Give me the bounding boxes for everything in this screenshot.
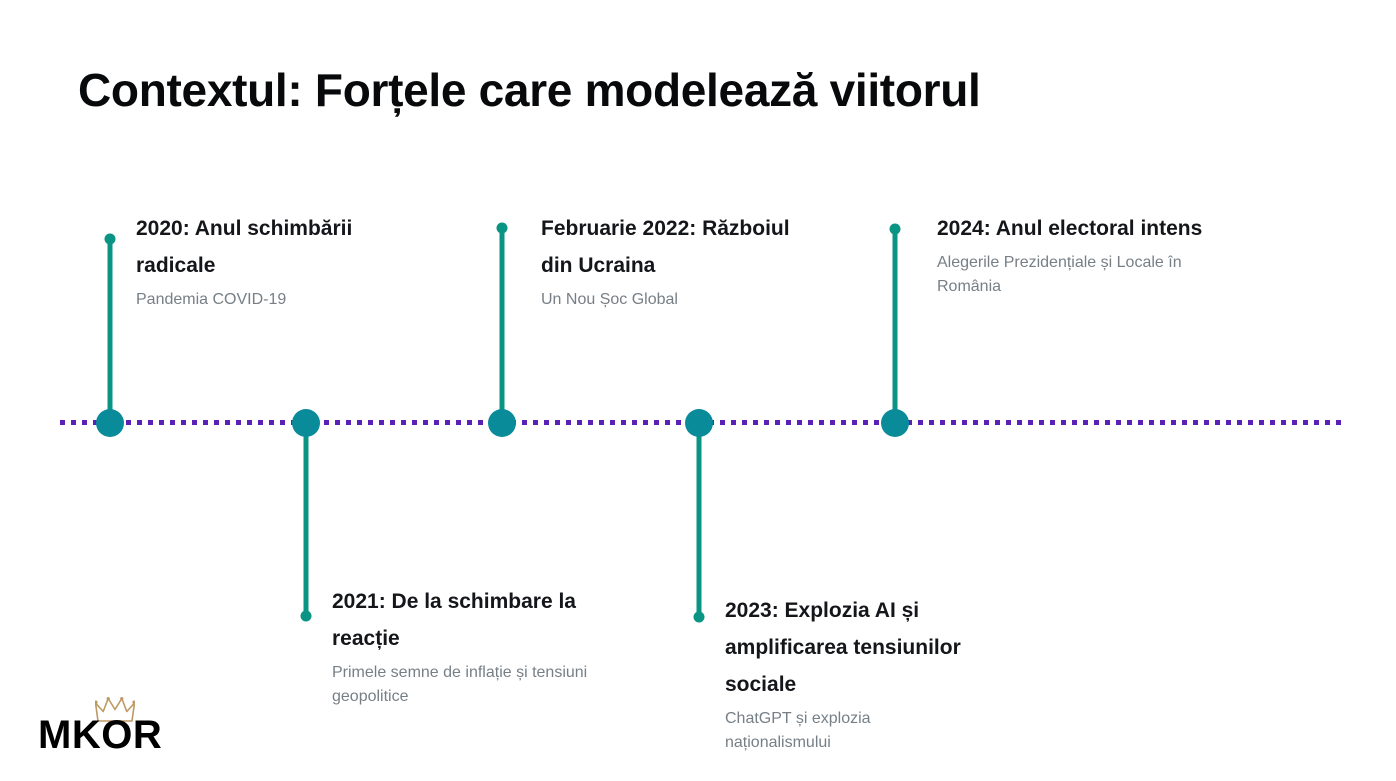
axis-dot — [1237, 420, 1242, 425]
axis-dot — [643, 420, 648, 425]
timeline-node-marker[interactable] — [881, 409, 909, 437]
brand-logo: MKOR — [38, 697, 168, 759]
axis-dot — [863, 420, 868, 425]
axis-dot — [764, 420, 769, 425]
axis-dot — [621, 420, 626, 425]
axis-dot — [159, 420, 164, 425]
axis-dot — [1336, 420, 1341, 425]
axis-dot — [588, 420, 593, 425]
axis-dot — [1314, 420, 1319, 425]
axis-dot — [918, 420, 923, 425]
axis-dot — [467, 420, 472, 425]
timeline-endpoint-dot — [694, 612, 705, 623]
timeline-item-subtitle: Un Nou Șoc Global — [541, 284, 813, 312]
axis-dot — [1303, 420, 1308, 425]
axis-dot — [192, 420, 197, 425]
axis-dot — [1259, 420, 1264, 425]
axis-dot — [1193, 420, 1198, 425]
axis-dot — [1149, 420, 1154, 425]
axis-dot — [830, 420, 835, 425]
timeline-item: 2020: Anul schimbării radicalePandemia C… — [136, 210, 408, 312]
axis-dot — [1204, 420, 1209, 425]
axis-dot — [137, 420, 142, 425]
axis-dot — [962, 420, 967, 425]
axis-dot — [1215, 420, 1220, 425]
axis-dot — [1061, 420, 1066, 425]
axis-dot — [434, 420, 439, 425]
axis-dot — [126, 420, 131, 425]
axis-dot — [247, 420, 252, 425]
axis-dot — [214, 420, 219, 425]
timeline-connector — [304, 423, 309, 616]
axis-dot — [1083, 420, 1088, 425]
axis-dot — [654, 420, 659, 425]
axis-dot — [786, 420, 791, 425]
axis-dot — [940, 420, 945, 425]
axis-dot — [445, 420, 450, 425]
axis-dot — [1182, 420, 1187, 425]
axis-dot — [1050, 420, 1055, 425]
axis-dot — [346, 420, 351, 425]
timeline-node-marker[interactable] — [292, 409, 320, 437]
axis-dot — [1072, 420, 1077, 425]
axis-dot — [1017, 420, 1022, 425]
timeline-item: 2024: Anul electoral intensAlegerile Pre… — [937, 210, 1227, 299]
axis-dot — [731, 420, 736, 425]
axis-dot — [841, 420, 846, 425]
axis-dot — [357, 420, 362, 425]
axis-dot — [951, 420, 956, 425]
axis-dot — [390, 420, 395, 425]
axis-dot — [478, 420, 483, 425]
axis-dot — [632, 420, 637, 425]
timeline-node-marker[interactable] — [685, 409, 713, 437]
axis-dot — [742, 420, 747, 425]
timeline-connector — [697, 423, 702, 617]
axis-dot — [610, 420, 615, 425]
axis-dot — [1006, 420, 1011, 425]
timeline-item-subtitle: Alegerile Prezidențiale și Locale în Rom… — [937, 247, 1227, 299]
axis-dot — [973, 420, 978, 425]
axis-dot — [797, 420, 802, 425]
axis-dot — [1292, 420, 1297, 425]
timeline-node-marker[interactable] — [96, 409, 124, 437]
axis-dot — [203, 420, 208, 425]
axis-dot — [1248, 420, 1253, 425]
axis-dot — [236, 420, 241, 425]
timeline-item-subtitle: ChatGPT și explozia naționalismului — [725, 703, 965, 755]
axis-dot — [324, 420, 329, 425]
axis-dot — [1325, 420, 1330, 425]
axis-dot — [720, 420, 725, 425]
axis-dot — [566, 420, 571, 425]
axis-dot — [1160, 420, 1165, 425]
timeline-item-subtitle: Primele semne de inflație și tensiuni ge… — [332, 657, 604, 709]
timeline-endpoint-dot — [497, 223, 508, 234]
timeline-item-subtitle: Pandemia COVID-19 — [136, 284, 408, 312]
axis-dot — [423, 420, 428, 425]
axis-dot — [60, 420, 65, 425]
timeline-endpoint-dot — [105, 234, 116, 245]
axis-dot — [148, 420, 153, 425]
axis-dot — [368, 420, 373, 425]
axis-dot — [1105, 420, 1110, 425]
axis-dot — [1270, 420, 1275, 425]
axis-dot — [522, 420, 527, 425]
axis-dot — [753, 420, 758, 425]
axis-dot — [819, 420, 824, 425]
axis-dot — [775, 420, 780, 425]
axis-dot — [1138, 420, 1143, 425]
axis-dot — [984, 420, 989, 425]
timeline-item-heading: 2021: De la schimbare la reacție — [332, 583, 604, 657]
axis-dot — [544, 420, 549, 425]
timeline-item: 2023: Explozia AI și amplificarea tensiu… — [725, 592, 965, 755]
axis-dot — [225, 420, 230, 425]
timeline-item-heading: 2024: Anul electoral intens — [937, 210, 1227, 247]
timeline-item-heading: Februarie 2022: Războiul din Ucraina — [541, 210, 813, 284]
axis-dot — [379, 420, 384, 425]
axis-dot — [170, 420, 175, 425]
axis-dot — [808, 420, 813, 425]
axis-dot — [929, 420, 934, 425]
axis-dot — [71, 420, 76, 425]
axis-dot — [456, 420, 461, 425]
axis-dot — [401, 420, 406, 425]
axis-dot — [269, 420, 274, 425]
axis-dot — [82, 420, 87, 425]
timeline-connector — [108, 239, 113, 423]
axis-dot — [1028, 420, 1033, 425]
timeline-connector — [500, 228, 505, 423]
timeline-endpoint-dot — [301, 611, 312, 622]
axis-dot — [533, 420, 538, 425]
timeline-node-marker[interactable] — [488, 409, 516, 437]
axis-dot — [852, 420, 857, 425]
axis-dot — [1094, 420, 1099, 425]
axis-dot — [258, 420, 263, 425]
timeline-item: 2021: De la schimbare la reacțiePrimele … — [332, 583, 604, 709]
axis-dot — [1281, 420, 1286, 425]
timeline-endpoint-dot — [890, 224, 901, 235]
axis-dot — [665, 420, 670, 425]
logo-wordmark: MKOR — [38, 713, 162, 757]
timeline-item: Februarie 2022: Războiul din UcrainaUn N… — [541, 210, 813, 312]
axis-dot — [1127, 420, 1132, 425]
timeline-item-heading: 2020: Anul schimbării radicale — [136, 210, 408, 284]
axis-dot — [874, 420, 879, 425]
axis-dot — [1116, 420, 1121, 425]
axis-dot — [1171, 420, 1176, 425]
axis-dot — [676, 420, 681, 425]
timeline-connector — [893, 229, 898, 423]
axis-dot — [181, 420, 186, 425]
axis-dot — [577, 420, 582, 425]
axis-dot — [335, 420, 340, 425]
axis-dot — [412, 420, 417, 425]
page-title: Contextul: Forțele care modelează viitor… — [78, 62, 1318, 118]
axis-dot — [280, 420, 285, 425]
axis-dot — [1226, 420, 1231, 425]
axis-dot — [995, 420, 1000, 425]
timeline-item-heading: 2023: Explozia AI și amplificarea tensiu… — [725, 592, 965, 703]
axis-dot — [599, 420, 604, 425]
axis-dot — [555, 420, 560, 425]
axis-dot — [1039, 420, 1044, 425]
